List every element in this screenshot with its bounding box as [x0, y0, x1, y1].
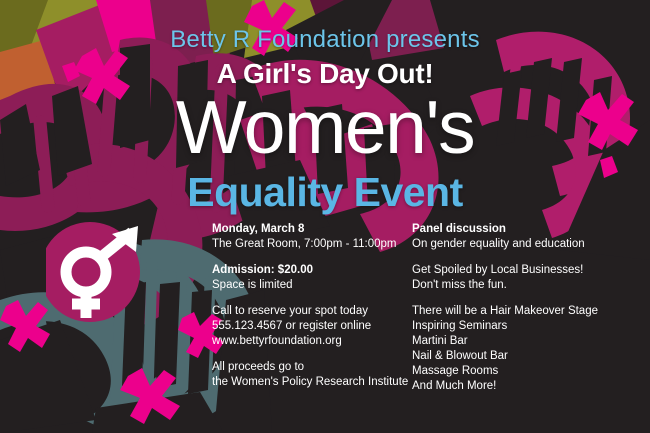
event-poster: Betty R Foundation presents A Girl's Day…: [0, 0, 650, 433]
details-column-left: Monday, March 8The Great Room, 7:00pm - …: [212, 222, 407, 390]
detail-heading: Monday, March 8: [212, 222, 407, 237]
detail-line: www.bettyrfoundation.org: [212, 334, 407, 349]
tagline: A Girl's Day Out!: [0, 60, 650, 88]
detail-line: Don't miss the fun.: [412, 278, 637, 293]
detail-line: Get Spoiled by Local Businesses!: [412, 263, 637, 278]
detail-line: And Much More!: [412, 379, 637, 394]
detail-line: Call to reserve your spot today: [212, 304, 407, 319]
detail-block: All proceeds go tothe Women's Policy Res…: [212, 360, 407, 390]
detail-line: the Women's Policy Research Institute: [212, 375, 407, 390]
detail-line: All proceeds go to: [212, 360, 407, 375]
detail-block: Panel discussionOn gender equality and e…: [412, 222, 637, 252]
details-column-right: Panel discussionOn gender equality and e…: [412, 222, 637, 394]
detail-line: There will be a Hair Makeover Stage: [412, 304, 637, 319]
detail-block: Admission: $20.00Space is limited: [212, 263, 407, 293]
detail-line: On gender equality and education: [412, 237, 637, 252]
detail-line: 555.123.4567 or register online: [212, 319, 407, 334]
detail-block: Call to reserve your spot today555.123.4…: [212, 304, 407, 349]
presenter-line: Betty R Foundation presents: [0, 28, 650, 52]
detail-block: Get Spoiled by Local Businesses!Don't mi…: [412, 263, 637, 293]
detail-line: Nail & Blowout Bar: [412, 349, 637, 364]
detail-line: Space is limited: [212, 278, 407, 293]
detail-heading: Admission: $20.00: [212, 263, 407, 278]
detail-line: Massage Rooms: [412, 364, 637, 379]
detail-block: There will be a Hair Makeover StageInspi…: [412, 304, 637, 394]
detail-line: The Great Room, 7:00pm - 11:00pm: [212, 237, 407, 252]
page-subtitle: Equality Event: [0, 172, 650, 213]
detail-line: Martini Bar: [412, 334, 637, 349]
detail-line: Inspiring Seminars: [412, 319, 637, 334]
detail-heading: Panel discussion: [412, 222, 637, 237]
page-title: Women's: [0, 88, 650, 167]
detail-block: Monday, March 8The Great Room, 7:00pm - …: [212, 222, 407, 252]
